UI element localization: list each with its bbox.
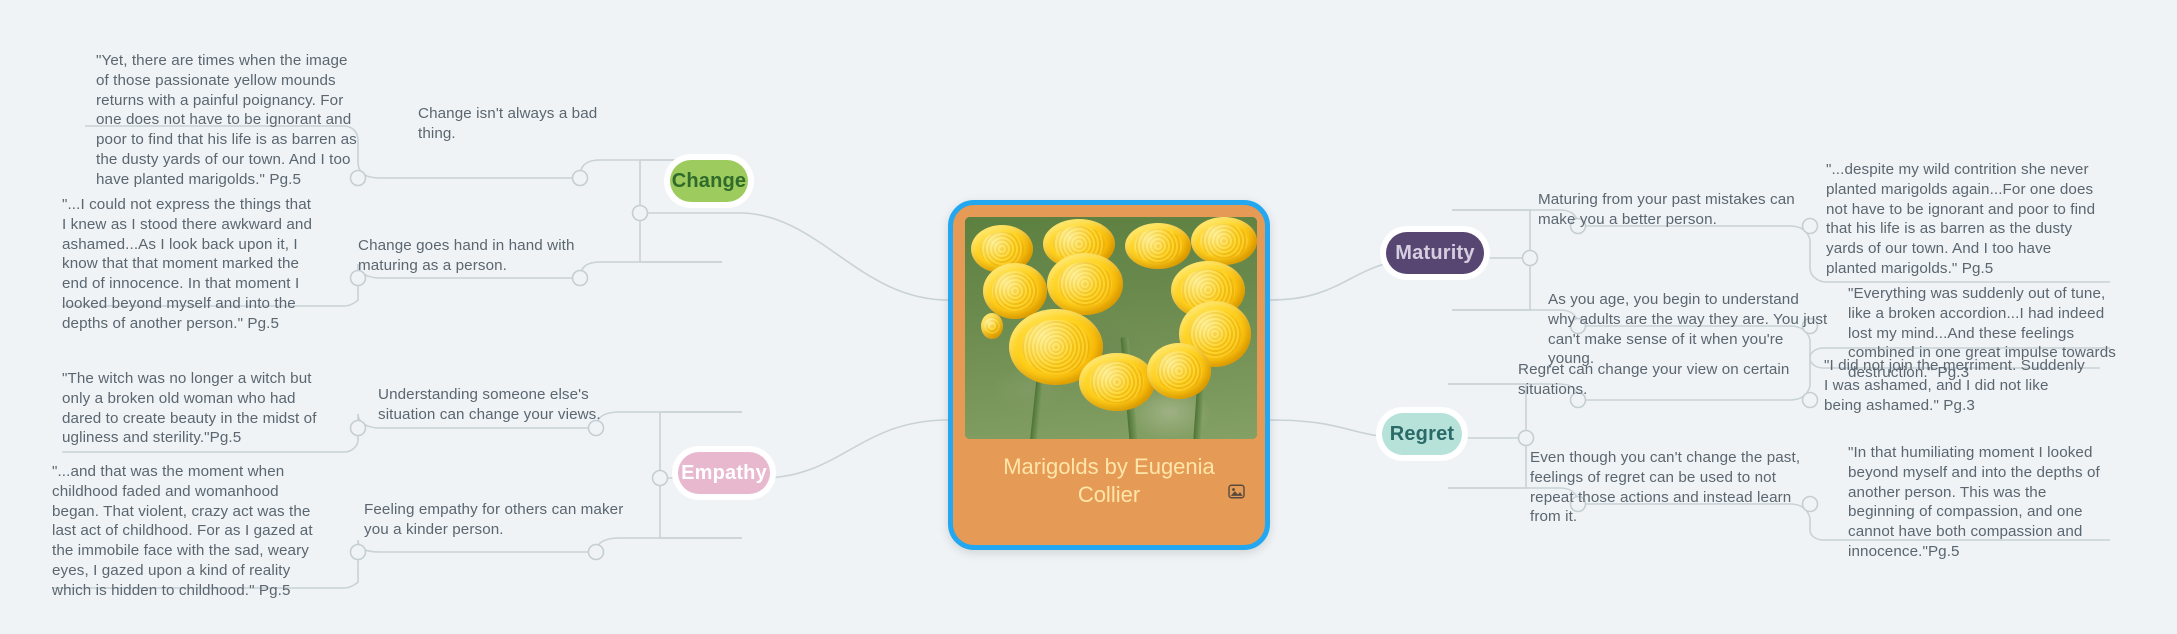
marigold-photo (965, 217, 1257, 439)
branch-pill-change[interactable]: Change (670, 160, 748, 202)
center-topic-card[interactable]: Marigolds by Eugenia Collier (948, 200, 1270, 550)
subtopic-regret-2[interactable]: Even though you can't change the past, f… (1530, 448, 1802, 527)
quote-regret-2[interactable]: "In that humiliating moment I looked bey… (1848, 443, 2110, 562)
subtopic-change-1[interactable]: Change isn't always a bad thing. (418, 104, 628, 144)
branch-label-maturity: Maturity (1395, 242, 1474, 265)
quote-change-1[interactable]: "Yet, there are times when the image of … (96, 51, 358, 189)
quote-regret-1[interactable]: "I did not join the merriment. Suddenly … (1824, 356, 2088, 415)
branch-dot-regret (1519, 431, 1534, 446)
branch-dot-empathy (653, 471, 668, 486)
quote-change-2[interactable]: "...I could not express the things that … (62, 195, 312, 333)
leaf-dot-empathy-2 (351, 545, 366, 560)
branch-dot-change (633, 206, 648, 221)
branch-label-regret: Regret (1390, 423, 1455, 446)
subtopic-empathy-2[interactable]: Feeling empathy for others can maker you… (364, 500, 632, 540)
branch-pill-regret[interactable]: Regret (1382, 413, 1462, 455)
node-dot-empathy-2 (589, 545, 604, 560)
branch-pill-maturity[interactable]: Maturity (1386, 232, 1484, 274)
leaf-dot-empathy-1 (351, 421, 366, 436)
branch-label-change: Change (672, 170, 747, 193)
subtopic-change-2[interactable]: Change goes hand in hand with maturing a… (358, 236, 620, 276)
branch-pill-empathy[interactable]: Empathy (678, 452, 770, 494)
quote-maturity-1[interactable]: "...despite my wild contrition she never… (1826, 160, 2102, 279)
subtopic-maturity-1[interactable]: Maturing from your past mistakes can mak… (1538, 190, 1810, 230)
leaf-dot-regret-1 (1803, 393, 1818, 408)
node-dot-change-1 (573, 171, 588, 186)
center-title: Marigolds by Eugenia Collier (953, 453, 1265, 509)
leaf-dot-regret-2 (1803, 497, 1818, 512)
subtopic-empathy-1[interactable]: Understanding someone else's situation c… (378, 385, 640, 425)
image-icon (1228, 484, 1245, 499)
quote-empathy-1[interactable]: "The witch was no longer a witch but onl… (62, 369, 324, 448)
subtopic-maturity-2[interactable]: As you age, you begin to understand why … (1548, 290, 1828, 369)
mindmap-canvas: Marigolds by Eugenia Collier Change Empa… (0, 0, 2177, 634)
subtopic-regret-1[interactable]: Regret can change your view on certain s… (1518, 360, 1790, 400)
branch-dot-maturity (1523, 251, 1538, 266)
quote-empathy-2[interactable]: "...and that was the moment when childho… (52, 462, 314, 600)
branch-label-empathy: Empathy (681, 462, 767, 485)
